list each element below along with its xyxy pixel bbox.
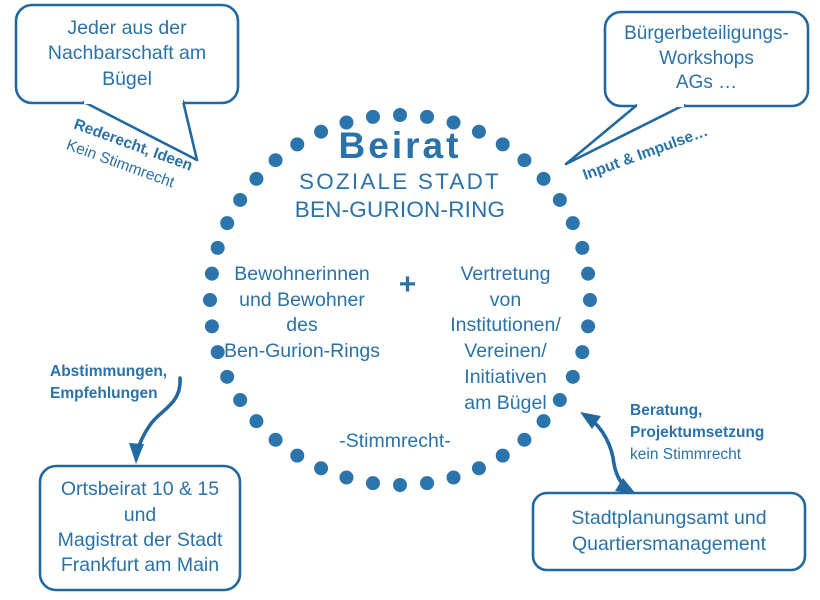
ring-dot [581, 319, 595, 333]
ring-dot [339, 115, 353, 129]
diagram-canvas: Jeder aus der Nachbarschaft am Bügel Bür… [0, 0, 820, 600]
ring-dot [566, 216, 580, 230]
ring-dot [566, 370, 580, 384]
ring-dot [575, 241, 589, 255]
ring-dot [205, 267, 219, 281]
bubble-top-right-body[interactable] [605, 12, 808, 106]
ring-dot [203, 293, 217, 307]
bubble-tail-seam [84, 101, 183, 102]
ring-dot [420, 476, 434, 490]
ring-dot [447, 471, 461, 485]
diagram-vector-layer [0, 0, 820, 600]
ring-dot [290, 449, 304, 463]
ring-dot [553, 193, 567, 207]
ring-dot [517, 433, 531, 447]
speech-bubble-tail-icon [84, 101, 197, 160]
ring-dot [269, 153, 283, 167]
box-bottom-left[interactable] [40, 466, 240, 590]
speech-bubble-tail-icon [566, 105, 684, 164]
bubble-top-left[interactable] [16, 5, 238, 160]
dotted-ring [203, 108, 597, 492]
ring-dot [205, 319, 219, 333]
ring-dot [220, 216, 234, 230]
ring-dot [496, 449, 510, 463]
box-bottom-left-body[interactable] [40, 466, 240, 590]
ring-dot [211, 345, 225, 359]
arrow-down-left-icon [129, 378, 180, 464]
ring-dot [393, 478, 407, 492]
ring-dot [575, 345, 589, 359]
ring-dot [233, 193, 247, 207]
ring-dot [581, 267, 595, 281]
ring-dot [517, 153, 531, 167]
ring-dot [220, 370, 234, 384]
ring-dot [583, 293, 597, 307]
box-bottom-right-body[interactable] [533, 493, 805, 570]
ring-dot [249, 414, 263, 428]
ring-dot [211, 241, 225, 255]
ring-dot [537, 172, 551, 186]
ring-dot [553, 393, 567, 407]
ring-dot [393, 108, 407, 122]
ring-dot [269, 433, 283, 447]
ring-dot [314, 461, 328, 475]
ring-dot [420, 110, 434, 124]
ring-dot [339, 471, 353, 485]
ring-dot [496, 137, 510, 151]
ring-dot [366, 110, 380, 124]
ring-dot [233, 393, 247, 407]
ring-dot [314, 125, 328, 139]
double-arrow-icon [580, 412, 636, 494]
ring-dot [537, 414, 551, 428]
bubble-top-left-body[interactable] [16, 5, 238, 103]
ring-dot [472, 461, 486, 475]
ring-dot [472, 125, 486, 139]
ring-dot [249, 172, 263, 186]
box-bottom-right[interactable] [533, 493, 805, 570]
ring-dot [447, 115, 461, 129]
ring-dot [290, 137, 304, 151]
ring-dot [366, 476, 380, 490]
bubble-top-right[interactable] [566, 12, 808, 164]
